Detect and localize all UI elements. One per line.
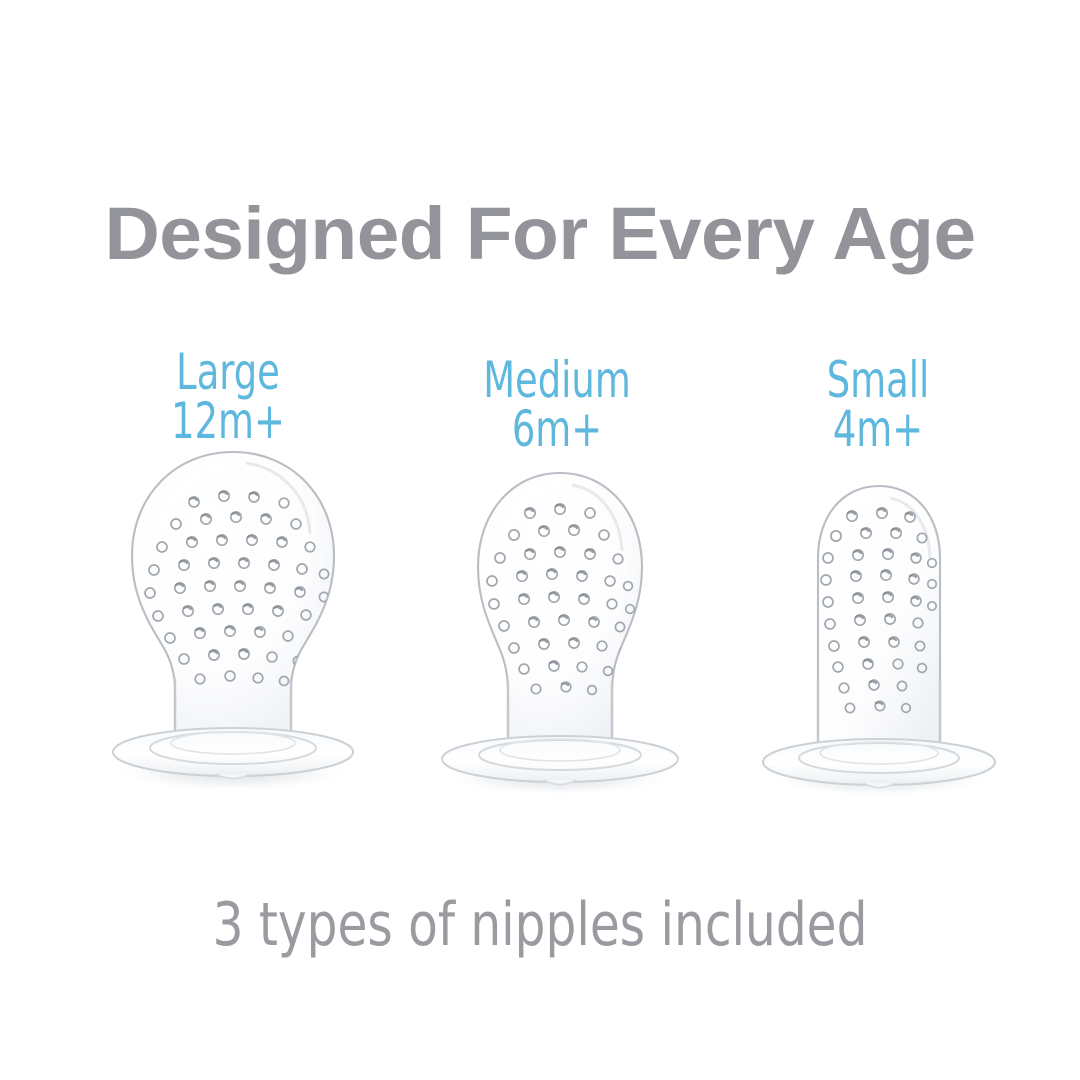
size-label-small-name: Small bbox=[763, 356, 993, 405]
nipple-body bbox=[132, 452, 334, 750]
size-label-medium-age: 6m+ bbox=[442, 405, 672, 454]
footer-caption: 3 types of nipples included bbox=[54, 892, 1026, 958]
silicone-feeder-nipple-large-icon bbox=[88, 430, 378, 810]
size-label-medium: Medium 6m+ bbox=[442, 356, 672, 454]
page-title: Designed For Every Age bbox=[0, 196, 1080, 273]
nipple-body bbox=[478, 473, 642, 757]
size-label-small: Small 4m+ bbox=[763, 356, 993, 454]
silicone-feeder-nipple-small-icon bbox=[742, 470, 1017, 810]
size-label-small-age: 4m+ bbox=[763, 405, 993, 454]
product-infographic: Designed For Every Age Large 12m+ bbox=[0, 0, 1080, 1080]
size-label-medium-name: Medium bbox=[442, 356, 672, 405]
silicone-feeder-nipple-medium-icon bbox=[420, 455, 700, 810]
size-label-large-name: Large bbox=[113, 348, 343, 397]
